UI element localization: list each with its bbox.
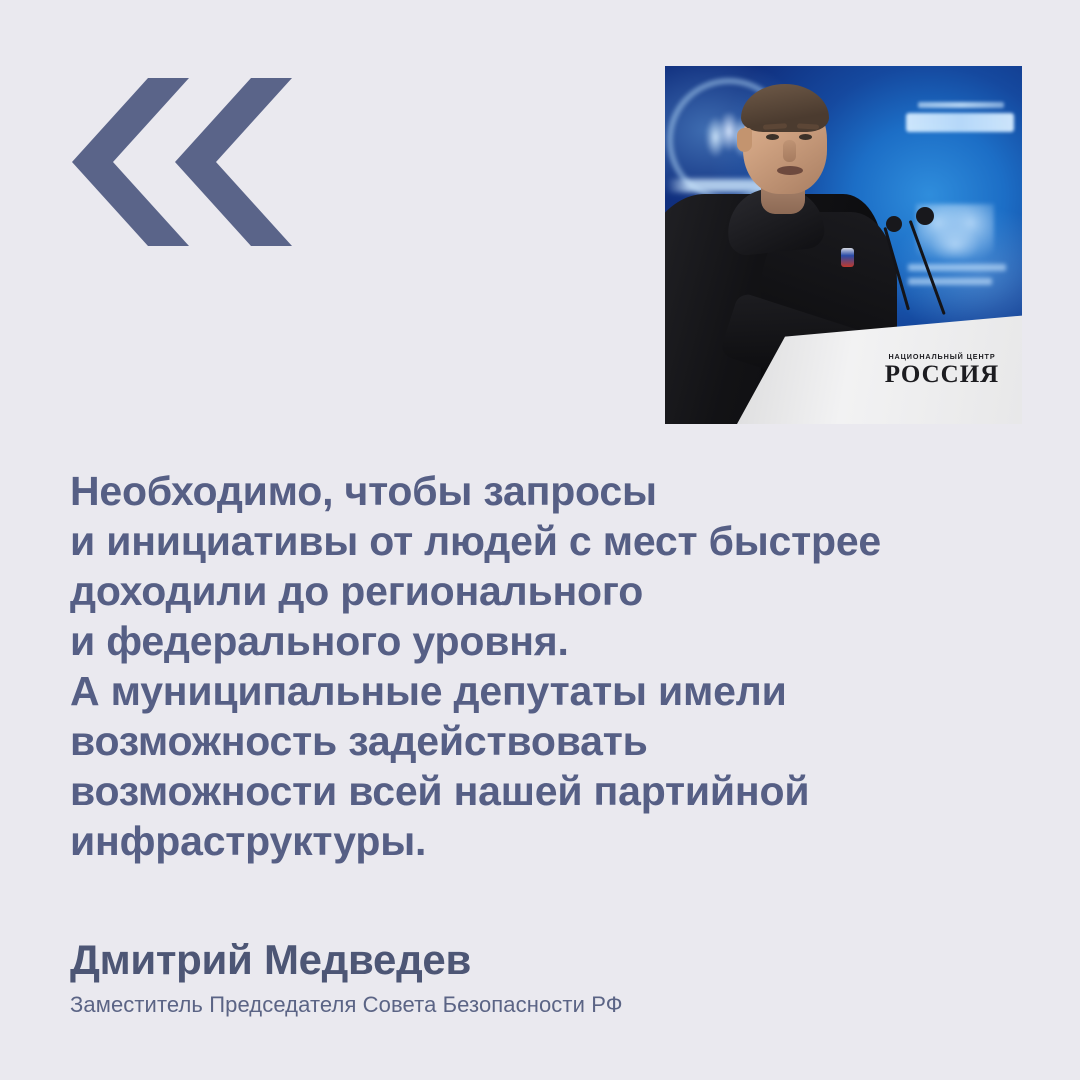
quote-text: Необходимо, чтобы запросы и инициативы о…	[70, 466, 1020, 866]
attribution-name: Дмитрий Медведев	[70, 936, 623, 983]
speaker-nose	[783, 140, 796, 162]
lapel-pin-icon	[841, 248, 854, 267]
double-left-chevron-icon	[72, 78, 292, 246]
speaker-eye-right	[799, 134, 812, 140]
quote-card: НАЦИОНАЛЬНЫЙ ЦЕНТР РОССИЯ Необходимо, чт…	[0, 0, 1080, 1080]
attribution: Дмитрий Медведев Заместитель Председател…	[70, 936, 623, 1020]
attribution-role: Заместитель Председателя Совета Безопасн…	[70, 991, 623, 1020]
speaker-eye-left	[766, 134, 779, 140]
speaker-ear	[737, 128, 752, 152]
speaker-mouth	[777, 166, 803, 175]
podium-logo-subtitle: НАЦИОНАЛЬНЫЙ ЦЕНТР	[869, 352, 1015, 361]
speaker-photo: НАЦИОНАЛЬНЫЙ ЦЕНТР РОССИЯ	[665, 66, 1022, 424]
podium-logo: НАЦИОНАЛЬНЫЙ ЦЕНТР РОССИЯ	[869, 352, 1015, 388]
podium-logo-title: РОССИЯ	[869, 362, 1015, 388]
speaker-brow-right	[797, 123, 819, 129]
